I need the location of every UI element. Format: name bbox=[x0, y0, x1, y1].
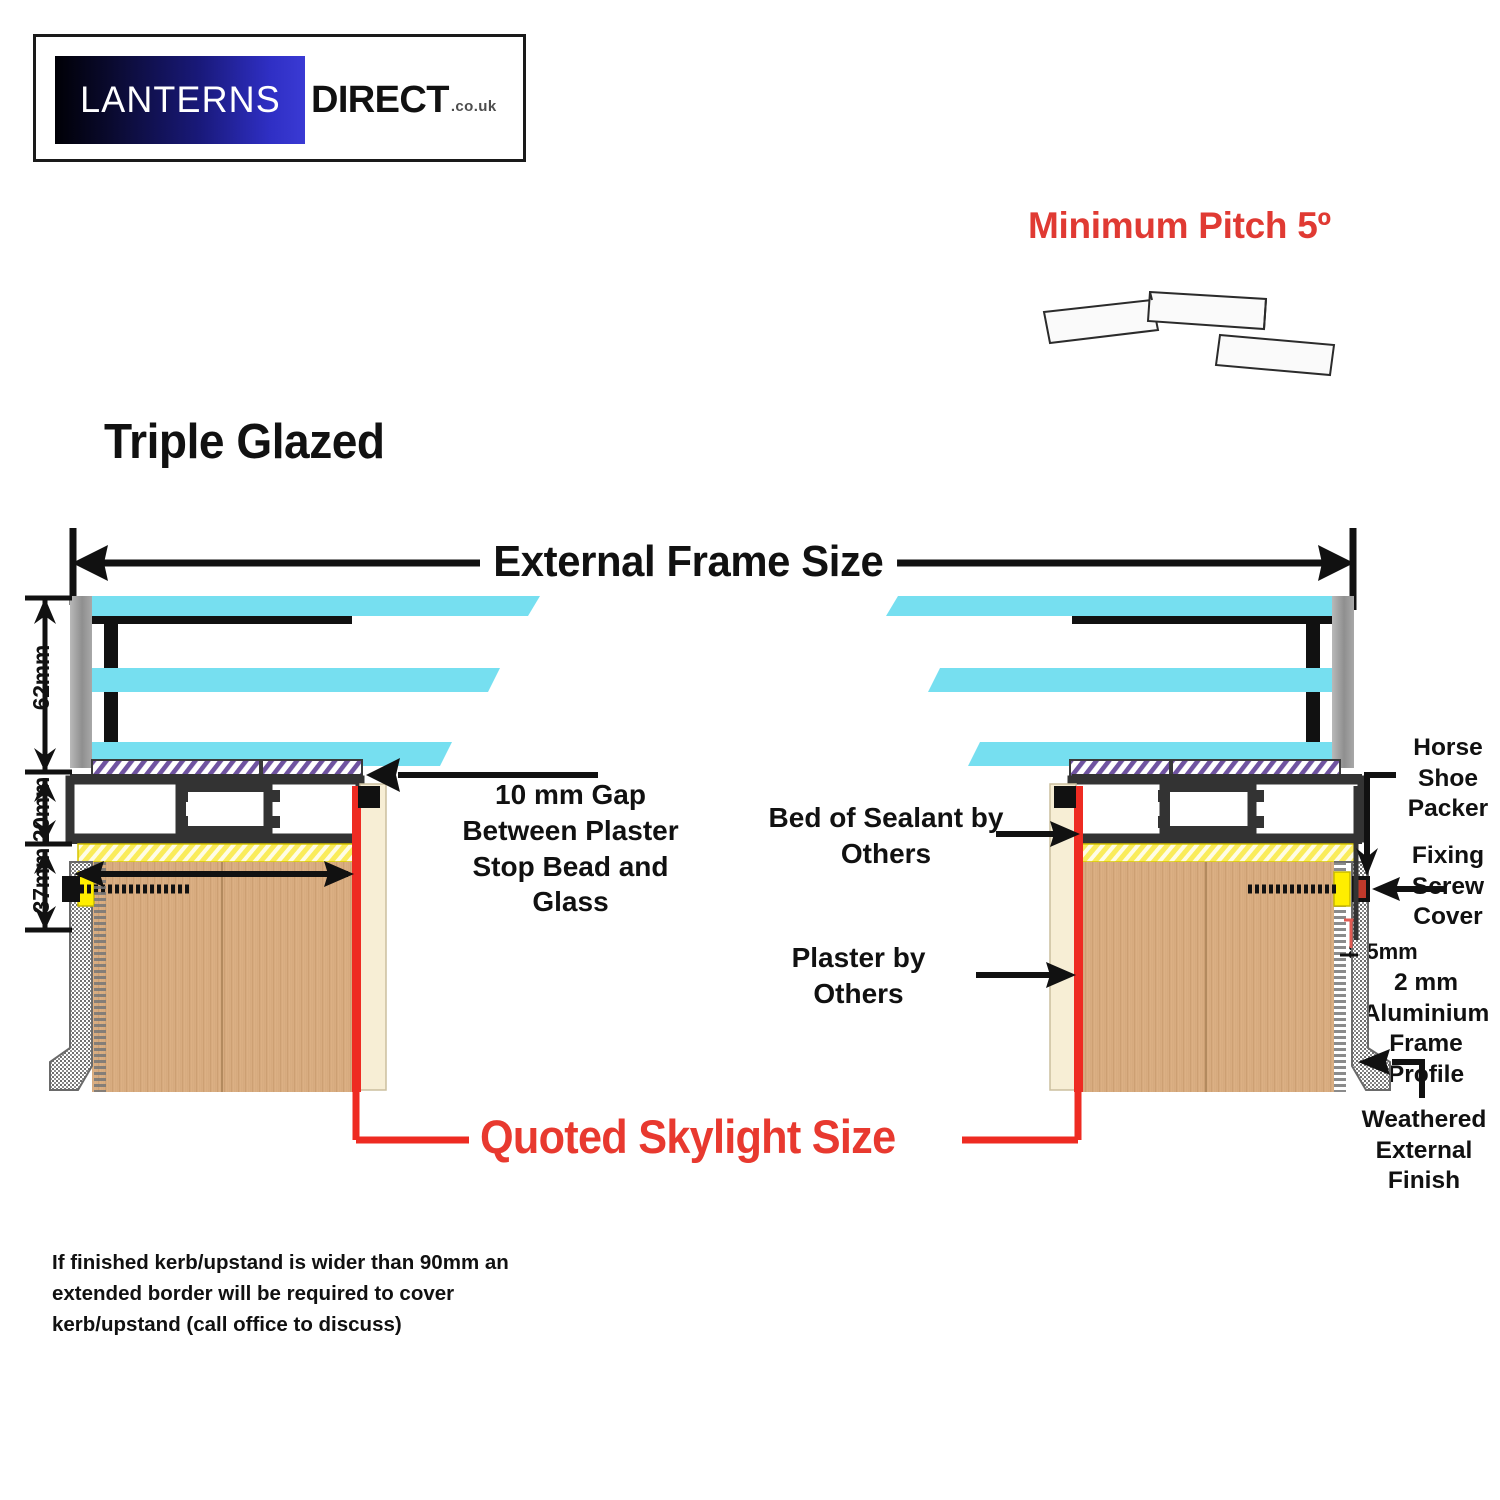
logo-lanterns-text: LANTERNS bbox=[80, 79, 281, 121]
dimension-kerb-width: 88.5mm * bbox=[155, 866, 284, 900]
plaster-left bbox=[360, 784, 386, 1090]
arrow-left-efs bbox=[72, 545, 108, 581]
callout-weathered-external-finish: Weathered External Finish bbox=[1348, 1105, 1500, 1197]
logo-tld-text: .co.uk bbox=[451, 98, 497, 115]
gasket-strip-inner bbox=[92, 760, 260, 782]
pitch-sketch-diagram bbox=[1040, 275, 1360, 385]
gasket-strip-inner-right bbox=[1172, 760, 1340, 782]
logo-inner: LANTERNS DIRECT .co.uk bbox=[55, 56, 510, 144]
arrow-right-885 bbox=[324, 861, 354, 887]
glass-pane-middle bbox=[92, 668, 500, 692]
callout-plaster-by-others: Plaster by Others bbox=[766, 940, 951, 1012]
quoted-size-line-right bbox=[1074, 786, 1083, 1092]
horse-shoe-packer-left bbox=[78, 872, 94, 906]
page-title-triple-glazed: Triple Glazed bbox=[104, 414, 385, 470]
horse-shoe-packer-right bbox=[1334, 872, 1350, 906]
glass-pane-middle-right bbox=[928, 668, 1332, 692]
dimension-glass-height: 62mm bbox=[28, 645, 55, 710]
minimum-pitch-title: Minimum Pitch 5º bbox=[1028, 205, 1331, 247]
gasket-strip-outer-right bbox=[1070, 760, 1170, 782]
weathered-external-finish-left bbox=[50, 862, 92, 1090]
quoted-skylight-size-label: Quoted Skylight Size bbox=[469, 1109, 906, 1164]
glass-edge-seal-left bbox=[70, 596, 92, 768]
glass-edge-seal-right bbox=[1332, 596, 1354, 768]
screw-cover-left bbox=[358, 786, 380, 808]
callout-bed-of-sealant: Bed of Sealant by Others bbox=[766, 800, 1006, 872]
leader-horse-shoe-packer bbox=[1367, 775, 1396, 860]
fixing-screw-cover-left bbox=[62, 876, 80, 902]
glass-pane-top bbox=[92, 596, 540, 616]
dimension-frame-height: 20mm bbox=[28, 777, 55, 842]
screw-cover-block-right bbox=[1054, 786, 1076, 808]
arrow-left-885 bbox=[74, 861, 104, 887]
arrow-right-efs bbox=[1318, 545, 1354, 581]
callout-aluminium-frame-profile: 2 mm Aluminium Frame Profile bbox=[1352, 968, 1500, 1091]
arrow-plaster-gap bbox=[366, 758, 400, 792]
quoted-size-line-left bbox=[352, 786, 361, 1092]
fixing-screw-cover-right bbox=[1352, 876, 1370, 902]
aluminium-frame-profile-left bbox=[70, 774, 362, 844]
sealant-bed-right bbox=[1076, 844, 1356, 862]
brand-logo: LANTERNS DIRECT .co.uk bbox=[33, 34, 526, 162]
callout-fixing-screw-cover: Fixing Screw Cover bbox=[1396, 841, 1500, 933]
arrow-bed-of-sealant bbox=[1050, 821, 1080, 847]
dimension-profile-offset: 8.5mm bbox=[1348, 938, 1448, 966]
callout-horse-shoe-packer: Horse Shoe Packer bbox=[1396, 733, 1500, 825]
aluminium-frame-profile-right bbox=[1072, 774, 1362, 844]
logo-direct-text: DIRECT bbox=[311, 79, 449, 122]
external-frame-size-label: External Frame Size bbox=[480, 537, 897, 587]
plaster-right bbox=[1050, 784, 1076, 1090]
glass-pane-bottom bbox=[92, 742, 452, 766]
glass-pane-top-right bbox=[886, 596, 1332, 616]
logo-direct-block: DIRECT .co.uk bbox=[305, 56, 510, 144]
footnote-kerb-width-note: If finished kerb/upstand is wider than 9… bbox=[52, 1247, 522, 1340]
gasket-strip-outer bbox=[262, 760, 362, 782]
glass-pane-bottom-right bbox=[968, 742, 1332, 766]
wood-kerb-right bbox=[1080, 862, 1334, 1092]
logo-lanterns-block: LANTERNS bbox=[55, 56, 305, 144]
sealant-bed-left bbox=[78, 844, 358, 862]
arrow-plaster-by-others bbox=[1046, 962, 1076, 988]
dimension-kerb-height: 37mm bbox=[28, 848, 55, 913]
callout-plaster-gap: 10 mm Gap Between Plaster Stop Bead and … bbox=[443, 777, 698, 920]
arrow-horse-shoe-packer bbox=[1356, 848, 1378, 876]
